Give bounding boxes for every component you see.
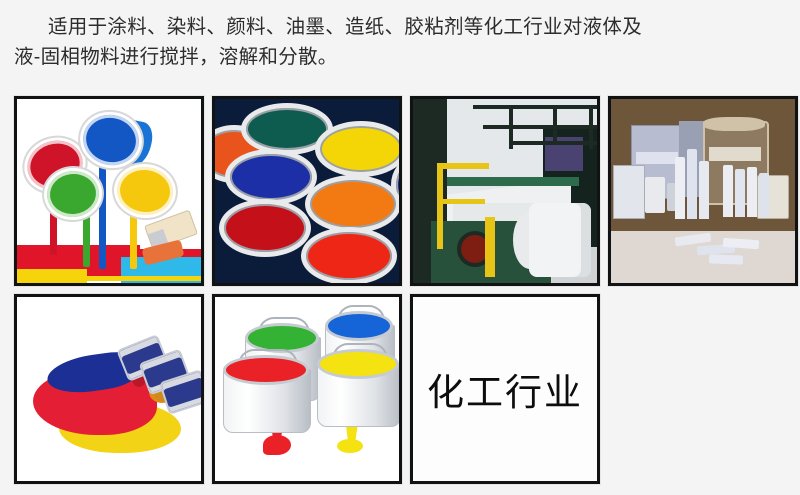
pail-rim (703, 117, 765, 131)
application-caption: 适用于涂料、染料、颜料、油墨、造纸、胶粘剂等化工行业对液体及 液-固相物料进行搅… (14, 12, 786, 72)
paint-stream-yellow (130, 209, 137, 269)
mill-yellow-rail-3 (485, 217, 495, 277)
gallery-cell-industry-label[interactable]: 化工行业 (410, 294, 600, 484)
mill-yellow-rail-2 (437, 163, 489, 169)
product-tube-7 (759, 173, 769, 217)
gallery-cell-paint-buckets[interactable] (212, 294, 402, 484)
paint-bucket-yellow (317, 349, 399, 445)
paint-stream-green (83, 211, 90, 267)
product-tube-4 (723, 165, 733, 217)
application-image-gallery: 化工行业 (14, 96, 786, 484)
product-tube-1 (675, 157, 685, 219)
product-application-banner: 适用于涂料、染料、颜料、油墨、造纸、胶粘剂等化工行业对液体及 液-固相物料进行搅… (0, 0, 800, 495)
photo-pigment-tins (215, 99, 399, 283)
gallery-cell-empty (608, 294, 798, 484)
mill-yellow-rail-1 (437, 163, 443, 249)
photo-sealant-products (611, 99, 795, 283)
product-tube-2 (687, 149, 697, 219)
pigment-tin-red (301, 227, 397, 283)
photo-paint-buckets (215, 297, 399, 481)
product-tube-5 (735, 169, 745, 217)
mill-overhead-beam-2 (483, 125, 597, 129)
gallery-cell-paper-mill[interactable] (410, 96, 600, 286)
bucket-paint-surface-yellow (317, 349, 399, 379)
pigment-tin-orange-2 (305, 175, 399, 233)
product-tube-3 (699, 161, 709, 219)
photo-paint-pouring-cans (17, 99, 201, 283)
paint-can-yellow (115, 164, 176, 218)
mill-paper-roll (529, 203, 591, 277)
mill-post-2 (553, 105, 557, 143)
can-lip (115, 164, 176, 218)
photo-spilled-paint-tins (17, 297, 201, 481)
bucket-paint-surface-red (223, 355, 309, 385)
caption-line-2: 液-固相物料进行搅拌，溶解和分散。 (14, 42, 786, 72)
pigment-tin-yellow (315, 121, 399, 177)
gallery-cell-spilled-paint-tins[interactable] (14, 294, 204, 484)
pigment-tin-dark-red (219, 199, 311, 257)
mill-yellow-rail-4 (441, 199, 485, 204)
industry-label-tile: 化工行业 (413, 297, 597, 481)
mill-green-bar (447, 177, 579, 186)
gallery-cell-sealant-products[interactable] (608, 96, 798, 286)
gallery-cell-pigment-tins[interactable] (212, 96, 402, 286)
photo-paper-mill (413, 99, 597, 283)
gallery-cell-paint-pouring-cans[interactable] (14, 96, 204, 286)
paint-stream-blue (99, 159, 106, 269)
mill-overhead-beam-1 (473, 105, 597, 109)
product-cartridge-4 (709, 254, 743, 264)
industry-label-text: 化工行业 (427, 362, 583, 416)
product-label (636, 152, 678, 164)
paint-bucket-red (223, 355, 309, 447)
mill-post-3 (589, 105, 593, 149)
product-jar (645, 177, 665, 213)
mill-post-1 (509, 105, 513, 149)
pigment-tin-blue (225, 149, 317, 205)
pail-label (709, 147, 761, 161)
product-carton-small (613, 165, 645, 219)
caption-line-1: 适用于涂料、染料、颜料、油墨、造纸、胶粘剂等化工行业对液体及 (14, 12, 786, 42)
product-tube-6 (747, 167, 757, 217)
paint-floor-strip (17, 276, 201, 281)
bucket-paint-surface-blue (325, 311, 393, 341)
